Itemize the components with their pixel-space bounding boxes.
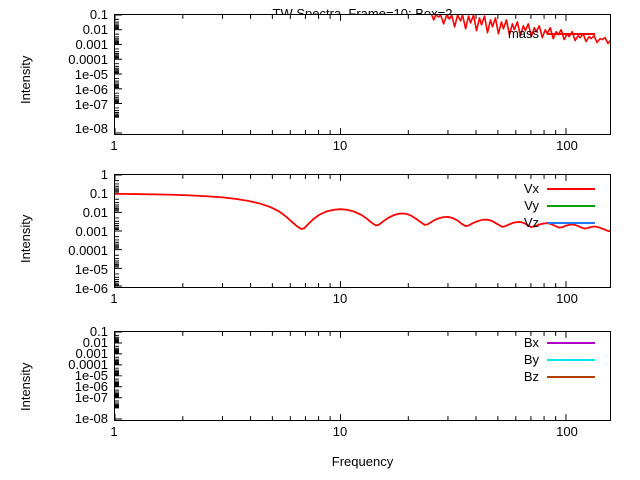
mass-panel-xtick: 10 bbox=[320, 139, 360, 152]
mass-panel-xtick: 1 bbox=[94, 139, 134, 152]
magnetic-panel-ylabel: Intensity bbox=[18, 363, 33, 411]
figure-canvas: TW Spectra, Frame=10; Box=2 Intensity 0.… bbox=[0, 0, 640, 480]
legend-key-bx bbox=[547, 342, 595, 344]
velocity-panel-ylabel: Intensity bbox=[18, 215, 33, 263]
velocity-panel-ytick: 0.0001 bbox=[34, 244, 108, 257]
mass-panel-ytick: 1e-05 bbox=[34, 68, 108, 81]
mass-panel-ytick: 0.0001 bbox=[34, 53, 108, 66]
velocity-panel-xtick: 10 bbox=[320, 292, 360, 305]
legend-label-vy: Vy bbox=[524, 198, 539, 214]
magnetic-panel-xtick: 100 bbox=[547, 425, 587, 438]
legend-key-bz bbox=[547, 376, 595, 378]
legend-key-mass bbox=[547, 33, 595, 35]
legend-entry-vz[interactable]: Vz bbox=[430, 215, 595, 231]
mass-panel-xtick: 100 bbox=[547, 139, 587, 152]
mass-panel-ylabel: Intensity bbox=[18, 56, 33, 104]
legend-entry-bz[interactable]: Bz bbox=[430, 369, 595, 385]
velocity-panel-xtick: 1 bbox=[94, 292, 134, 305]
legend-label-bx: Bx bbox=[524, 335, 539, 351]
legend-key-vz bbox=[547, 222, 595, 224]
legend-key-vx bbox=[547, 188, 595, 190]
velocity-panel-ytick: 0.001 bbox=[34, 225, 108, 238]
legend-entry-bx[interactable]: Bx bbox=[430, 335, 595, 351]
mass-panel-ytick: 1e-06 bbox=[34, 83, 108, 96]
legend-label-vz: Vz bbox=[524, 215, 539, 231]
velocity-panel-ytick: 1e-05 bbox=[34, 263, 108, 276]
magnetic-panel-ytick: 1e-07 bbox=[34, 391, 108, 404]
legend-entry-by[interactable]: By bbox=[430, 352, 595, 368]
mass-panel-ytick: 0.1 bbox=[34, 8, 108, 21]
legend-label-mass: mass bbox=[508, 26, 539, 42]
velocity-panel-ytick: 0.1 bbox=[34, 187, 108, 200]
legend-entry-mass[interactable]: mass bbox=[430, 26, 595, 42]
velocity-panel-ytick: 1 bbox=[34, 168, 108, 181]
magnetic-panel-xtick: 1 bbox=[94, 425, 134, 438]
xaxis-label: Frequency bbox=[114, 455, 611, 468]
mass-ytick-marks bbox=[115, 15, 122, 133]
mass-panel-ytick: 0.001 bbox=[34, 38, 108, 51]
legend-label-bz: Bz bbox=[524, 369, 539, 385]
velocity-ytick-marks bbox=[115, 175, 122, 286]
legend-label-vx: Vx bbox=[524, 181, 539, 197]
mass-panel-ytick: 1e-07 bbox=[34, 98, 108, 111]
velocity-panel-ytick: 0.01 bbox=[34, 206, 108, 219]
magnetic-panel-xtick: 10 bbox=[320, 425, 360, 438]
legend-entry-vy[interactable]: Vy bbox=[430, 198, 595, 214]
mass-panel-ytick: 1e-08 bbox=[34, 122, 108, 135]
magnetic-ytick-marks bbox=[115, 332, 122, 419]
velocity-panel-xtick: 100 bbox=[547, 292, 587, 305]
legend-entry-vx[interactable]: Vx bbox=[430, 181, 595, 197]
legend-key-vy bbox=[547, 205, 595, 207]
magnetic-panel-ytick: 1e-08 bbox=[34, 412, 108, 425]
legend-label-by: By bbox=[524, 352, 539, 368]
mass-panel-ytick: 0.01 bbox=[34, 23, 108, 36]
legend-key-by bbox=[547, 359, 595, 361]
